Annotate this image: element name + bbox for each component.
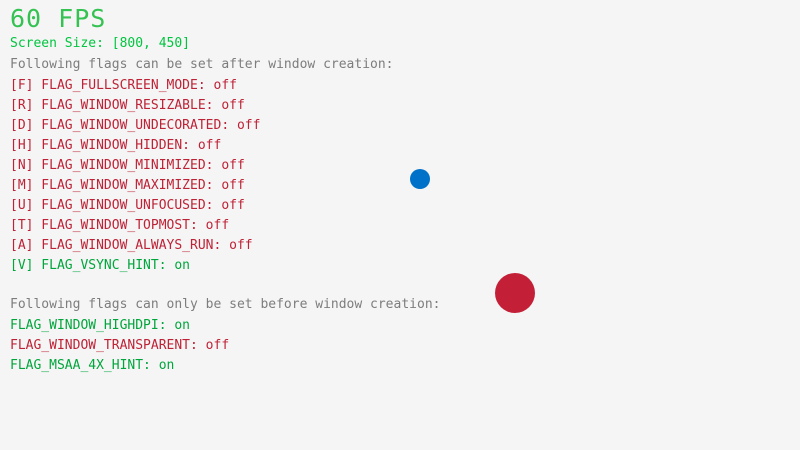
flag-row-window-maximized[interactable]: [M] FLAG_WINDOW_MAXIMIZED: off — [10, 179, 245, 192]
screen-size-label: Screen Size: [800, 450] — [10, 37, 190, 50]
before-creation-note: Following flags can only be set before w… — [10, 298, 440, 311]
raylib-window-canvas[interactable]: 60 FPS Screen Size: [800, 450] Following… — [0, 0, 800, 450]
flag-row-window-undecorated[interactable]: [D] FLAG_WINDOW_UNDECORATED: off — [10, 119, 260, 132]
flag-row-msaa-4x-hint: FLAG_MSAA_4X_HINT: on — [10, 359, 174, 372]
flag-row-window-minimized[interactable]: [N] FLAG_WINDOW_MINIMIZED: off — [10, 159, 245, 172]
after-creation-note: Following flags can be set after window … — [10, 58, 394, 71]
flag-row-window-hidden[interactable]: [H] FLAG_WINDOW_HIDDEN: off — [10, 139, 221, 152]
flag-row-window-unfocused[interactable]: [U] FLAG_WINDOW_UNFOCUSED: off — [10, 199, 245, 212]
flag-row-window-transparent: FLAG_WINDOW_TRANSPARENT: off — [10, 339, 229, 352]
flag-row-window-topmost[interactable]: [T] FLAG_WINDOW_TOPMOST: off — [10, 219, 229, 232]
flag-row-window-highdpi: FLAG_WINDOW_HIGHDPI: on — [10, 319, 190, 332]
fps-counter: 60 FPS — [10, 6, 106, 31]
overlay-text-layer: 60 FPS Screen Size: [800, 450] Following… — [0, 0, 800, 450]
flag-row-window-resizable[interactable]: [R] FLAG_WINDOW_RESIZABLE: off — [10, 99, 245, 112]
flag-row-vsync-hint[interactable]: [V] FLAG_VSYNC_HINT: on — [10, 259, 190, 272]
flag-row-window-always-run[interactable]: [A] FLAG_WINDOW_ALWAYS_RUN: off — [10, 239, 253, 252]
flag-row-fullscreen-mode[interactable]: [F] FLAG_FULLSCREEN_MODE: off — [10, 79, 237, 92]
